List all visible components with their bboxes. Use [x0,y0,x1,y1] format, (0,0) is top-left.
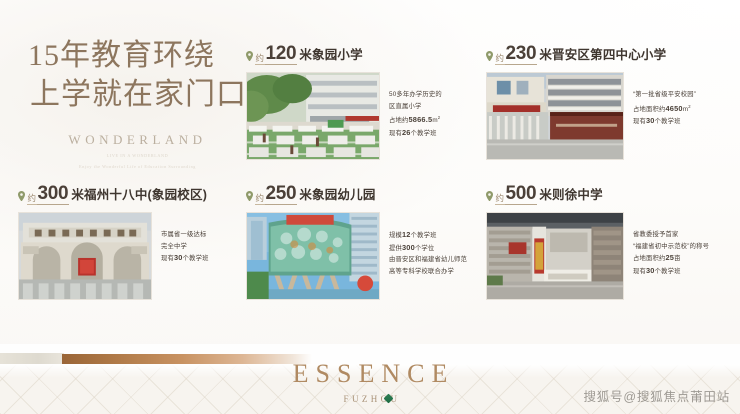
approx-label: 约 [495,53,505,65]
desc-line-1: 50多年办学历史的 [389,89,442,101]
footer-copper-band [62,354,312,364]
card-heading: 约 230 米晋安区第四中心小学 [486,44,726,66]
approx-label: 约 [255,53,265,65]
school-name: 米则徐中学 [539,184,603,203]
card-body: “第一批省级平安校园” 占地面积约4650m2 现有30个教学班 [486,72,726,160]
distance-value: 500 [505,184,538,205]
modern-school-entrance-photo [486,212,624,300]
school-assembly-photo [246,72,380,160]
school-name: 米象园幼儿园 [299,184,375,203]
desc-line-2: 完全中学 [161,241,209,253]
desc-line-3: 由晋安区和福建省幼儿师范 [389,254,467,266]
location-pin-icon [246,191,253,202]
school-card-fuzhou-18-middle[interactable]: 约 300 米福州十八中(象园校区) [18,184,248,300]
card-heading: 约 300 米福州十八中(象园校区) [18,184,248,206]
card-description: 市属省一级达标 完全中学 现有30个教学班 [161,212,209,300]
poster-canvas: 15年教育环绕 上学就在家门口 WONDERLAND LIVE IN A WON… [0,0,740,414]
school-gate-photo [486,72,624,160]
distance-value: 250 [265,184,298,205]
modern-glass-building-photo [246,212,380,300]
location-pin-icon [246,51,253,62]
school-name: 米象园小学 [299,44,363,63]
footer-beige-band [0,353,64,364]
watermark-text: 搜狐号@搜狐焦点莆田站 [584,386,731,405]
desc-line-3: 现有30个教学班 [633,115,696,128]
approx-label: 约 [255,193,265,205]
card-body: 市属省一级达标 完全中学 现有30个教学班 [18,212,248,300]
desc-line-1: “第一批省级平安校园” [633,89,696,101]
approx-label: 约 [27,193,37,205]
card-description: 省教委授予首家 “福建省初中示范校”的称号 占地面积约25亩 现有30个教学班 [633,212,709,300]
school-name: 米晋安区第四中心小学 [539,44,666,63]
desc-line-1: 省教委授予首家 [633,229,709,241]
desc-line-2: 提供300个学位 [389,242,467,255]
card-heading: 约 120 米象园小学 [246,44,476,66]
card-body: 省教委授予首家 “福建省初中示范校”的称号 占地面积约25亩 现有30个教学班 [486,212,726,300]
desc-line-2: 占地面积约4650m2 [633,101,696,116]
card-description: 规模12个教学班 提供300个学位 由晋安区和福建省幼儿师范 高等专科学校联合办… [389,212,467,300]
school-card-xiangyuan-kindergarten[interactable]: 约 250 米象园幼儿园 [246,184,476,300]
card-heading: 约 250 米象园幼儿园 [246,184,476,206]
desc-line-3: 占地约5866.5m2 [389,112,442,127]
desc-line-2: 区直属小学 [389,101,442,113]
desc-line-1: 规模12个教学班 [389,229,467,242]
location-pin-icon [486,51,493,62]
distance-value: 300 [37,184,70,205]
desc-line-4: 现有30个教学班 [633,265,709,278]
desc-line-4: 高等专科学校联合办学 [389,266,467,278]
school-card-jinan-4th-central-primary[interactable]: 约 230 米晋安区第四中心小学 [486,44,726,160]
school-card-xiangyuan-primary[interactable]: 约 120 米象园小学 [246,44,476,160]
desc-line-1: 市属省一级达标 [161,229,209,241]
card-description: “第一批省级平安校园” 占地面积约4650m2 现有30个教学班 [633,72,696,160]
desc-line-4: 现有26个教学班 [389,127,442,140]
card-heading: 约 500 米则徐中学 [486,184,726,206]
distance-value: 120 [265,44,298,65]
desc-line-3: 占地面积约25亩 [633,252,709,265]
desc-line-3: 现有30个教学班 [161,252,209,265]
location-pin-icon [18,191,25,202]
distance-value: 230 [505,44,538,65]
card-description: 50多年办学历史的 区直属小学 占地约5866.5m2 现有26个教学班 [389,72,442,160]
school-card-grid: 约 120 米象园小学 [0,0,740,330]
desc-line-2: “福建省初中示范校”的称号 [633,241,709,253]
school-name: 米福州十八中(象园校区) [71,184,207,203]
school-archway-photo [18,212,152,300]
card-body: 50多年办学历史的 区直属小学 占地约5866.5m2 现有26个教学班 [246,72,476,160]
card-body: 规模12个教学班 提供300个学位 由晋安区和福建省幼儿师范 高等专科学校联合办… [246,212,476,300]
location-pin-icon [486,191,493,202]
approx-label: 约 [495,193,505,205]
school-card-zexu-middle[interactable]: 约 500 米则徐中学 [486,184,726,300]
